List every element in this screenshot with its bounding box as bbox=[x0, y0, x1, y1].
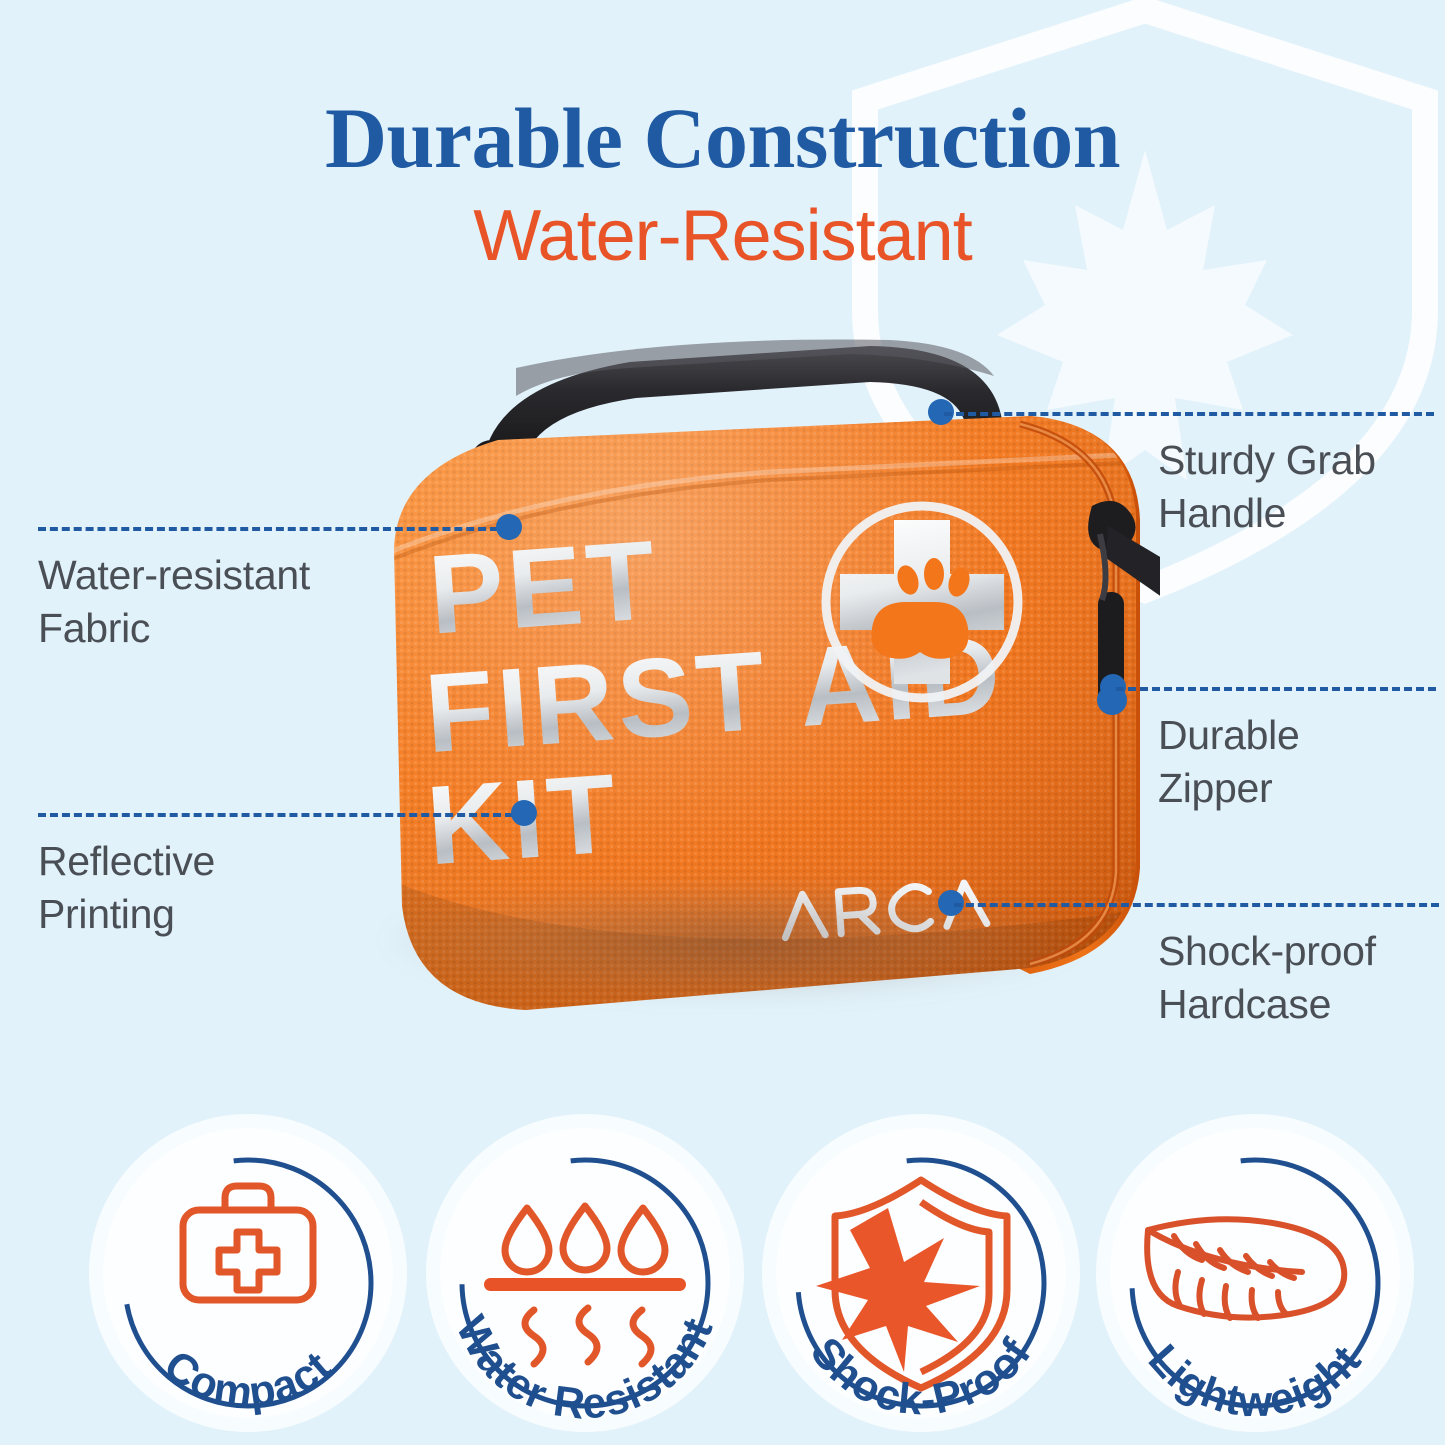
badge-water-resistant[interactable]: Water Resistant bbox=[422, 1120, 747, 1445]
medical-cross-paw-emblem bbox=[826, 506, 1018, 698]
product-shadow bbox=[385, 880, 1085, 1000]
water-droplets-icon bbox=[484, 1206, 686, 1364]
callout-label: Shock-proof Hardcase bbox=[1158, 925, 1445, 1032]
callout-dot bbox=[511, 800, 537, 826]
callout-dash-line bbox=[944, 412, 1434, 416]
callout-dash-line bbox=[954, 903, 1439, 907]
callout-dot bbox=[496, 514, 522, 540]
first-aid-kit-icon bbox=[183, 1186, 313, 1300]
badge-label: Compact bbox=[155, 1341, 341, 1417]
feature-badge-row: Compact bbox=[0, 1120, 1445, 1445]
callout-dash-line bbox=[38, 813, 513, 817]
badge-shock-proof[interactable]: Shock-Proof bbox=[758, 1120, 1083, 1445]
badge-lightweight[interactable]: Lightweight bbox=[1092, 1120, 1417, 1445]
callout-dash-line bbox=[1116, 687, 1436, 691]
callout-label: Sturdy Grab Handle bbox=[1158, 434, 1445, 541]
callout-label: Water-resistant Fabric bbox=[38, 549, 458, 656]
page-subtitle: Water-Resistant bbox=[0, 195, 1445, 278]
badge-label: Lightweight bbox=[1139, 1336, 1371, 1426]
infographic-canvas: Durable Construction Water-Resistant bbox=[0, 0, 1445, 1445]
feather-icon bbox=[1147, 1219, 1344, 1318]
callout-label: Durable Zipper bbox=[1158, 709, 1445, 816]
page-title: Durable Construction bbox=[0, 95, 1445, 183]
badge-label: Shock-Proof bbox=[801, 1329, 1041, 1425]
header-block: Durable Construction Water-Resistant bbox=[0, 95, 1445, 278]
callout-dash-line bbox=[38, 527, 498, 531]
badge-compact[interactable]: Compact bbox=[85, 1120, 410, 1445]
callout-label: Reflective Printing bbox=[38, 835, 458, 942]
